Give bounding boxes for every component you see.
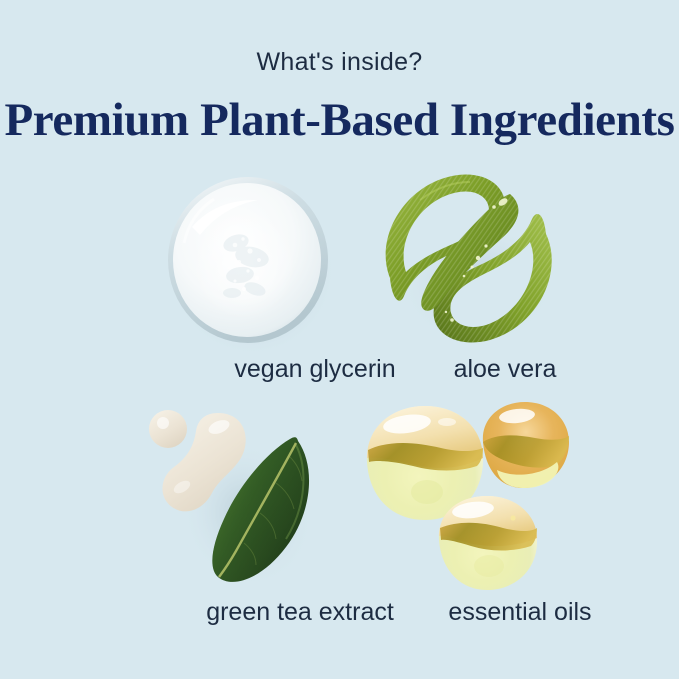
ingredient-card-green-tea-extract: green tea extract (120, 395, 360, 645)
oil-droplet-small-top (483, 402, 569, 488)
ingredient-label-essential-oils: essential oils (355, 600, 679, 625)
aloe-leaf-curled-ribbon-icon (360, 160, 580, 360)
ingredient-grid: vegan glycerin (0, 160, 679, 660)
eyebrow-text: What's inside? (0, 50, 679, 75)
glycerin-gel-droplet-icon (140, 165, 360, 355)
header: What's inside? Premium Plant-Based Ingre… (0, 0, 679, 144)
ingredient-card-vegan-glycerin: vegan glycerin (140, 165, 360, 395)
page-title: Premium Plant-Based Ingredients (0, 97, 679, 144)
ingredient-card-aloe-vera: aloe vera (360, 160, 580, 390)
tea-leaf-with-cream-droplets-icon (120, 395, 360, 595)
ingredients-infographic: What's inside? Premium Plant-Based Ingre… (0, 0, 679, 679)
three-golden-oil-droplets-icon (355, 400, 585, 600)
ingredient-label-aloe-vera: aloe vera (360, 357, 650, 382)
ingredient-card-essential-oils: essential oils (355, 400, 585, 650)
